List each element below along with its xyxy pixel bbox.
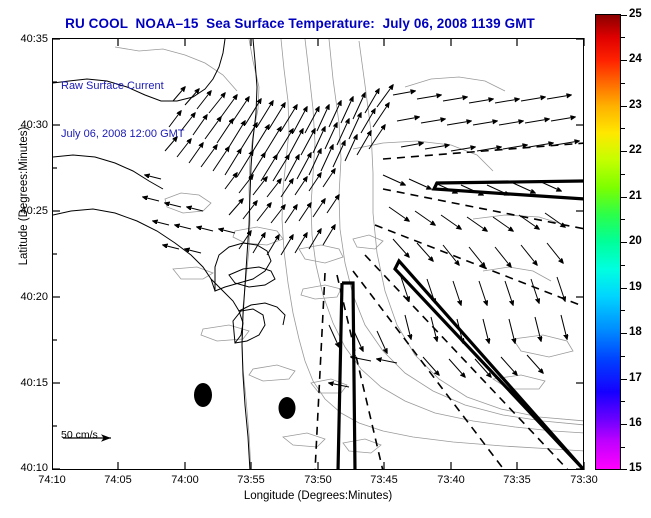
colorbar-minor-tick	[621, 265, 625, 266]
colorbar-label-23: 23	[629, 99, 642, 111]
colorbar-label-16: 16	[629, 417, 642, 429]
colorbar-tick-19	[621, 288, 627, 289]
colorbar-minor-tick	[621, 356, 625, 357]
map-overlay-graphics	[53, 39, 584, 470]
colorbar-label-19: 19	[629, 281, 642, 293]
colorbar-tick-18	[621, 333, 627, 334]
x-tick-label-74-10: 74:10	[29, 474, 75, 486]
colorbar-tick-21	[621, 197, 627, 198]
page-title: RU COOL NOAA–15 Sea Surface Temperature:…	[0, 16, 600, 31]
scale-bar: 50 cm/s	[61, 429, 98, 442]
surface-current-vectors	[143, 85, 579, 387]
y-axis-label: Latitude (Degrees:Minutes)	[18, 96, 30, 296]
colorbar-tick-16	[621, 424, 627, 425]
colorbar-label-21: 21	[629, 190, 642, 202]
x-tick-label-73-30: 73:30	[561, 474, 607, 486]
coastline	[53, 39, 285, 470]
colorbar-tick-22	[621, 151, 627, 152]
colorbar-label-17: 17	[629, 372, 642, 384]
colorbar-label-25: 25	[629, 8, 642, 20]
colorbar-tick-15	[621, 469, 627, 470]
colorbar-minor-tick	[621, 447, 625, 448]
colorbar-tick-17	[621, 379, 627, 380]
x-tick-label-73-50: 73:50	[295, 474, 341, 486]
y-tick-label-40-35: 40:35	[2, 33, 48, 45]
map-plot-area[interactable]: Raw Surface Current July 06, 2008 12:00 …	[52, 38, 584, 470]
colorbar-label-15: 15	[629, 462, 642, 474]
colorbar-label-18: 18	[629, 326, 642, 338]
colorbar-minor-tick	[621, 128, 625, 129]
colorbar-label-22: 22	[629, 144, 642, 156]
x-tick-label-74-00: 74:00	[162, 474, 208, 486]
colorbar-minor-tick	[621, 37, 625, 38]
colorbar	[595, 14, 621, 470]
colorbar-minor-tick	[621, 174, 625, 175]
x-tick-label-73-35: 73:35	[494, 474, 540, 486]
x-tick-label-73-55: 73:55	[228, 474, 274, 486]
colorbar-tick-24	[621, 60, 627, 61]
colorbar-minor-tick	[621, 401, 625, 402]
right-arrow-icon	[61, 432, 119, 444]
colorbar-minor-tick	[621, 310, 625, 311]
colorbar-label-20: 20	[629, 235, 642, 247]
colorbar-tick-23	[621, 106, 627, 107]
colorbar-label-24: 24	[629, 53, 642, 65]
shipping-lanes	[338, 181, 584, 470]
colorbar-tick-20	[621, 242, 627, 243]
y-tick-label-40-15: 40:15	[2, 377, 48, 389]
x-tick-label-73-40: 73:40	[428, 474, 474, 486]
y-tick-label-40-10: 40:10	[2, 462, 48, 474]
x-tick-label-73-45: 73:45	[361, 474, 407, 486]
colorbar-minor-tick	[621, 219, 625, 220]
colorbar-minor-tick	[621, 83, 625, 84]
x-axis-label: Longitude (Degrees:Minutes)	[148, 490, 488, 502]
colorbar-tick-25	[621, 15, 627, 16]
x-tick-label-74-05: 74:05	[95, 474, 141, 486]
